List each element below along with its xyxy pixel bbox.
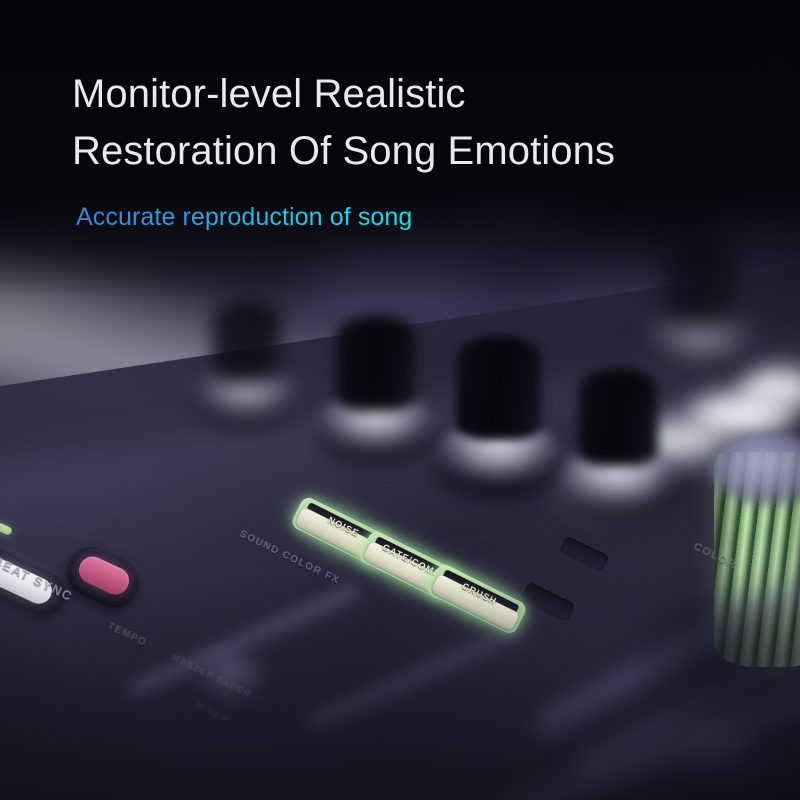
- page-subtitle: Accurate reproduction of song: [76, 203, 412, 232]
- headline-line-2: Restoration Of Song Emotions: [72, 123, 732, 180]
- page-title: Monitor-level Realistic Restoration Of S…: [72, 66, 732, 180]
- headline-line-1: Monitor-level Realistic: [72, 66, 732, 123]
- hero-banner: SOUND COLOR FX BEAT SYNC TEMPO MASTER FA…: [0, 0, 800, 800]
- marketing-text-overlay: Monitor-level Realistic Restoration Of S…: [0, 0, 800, 800]
